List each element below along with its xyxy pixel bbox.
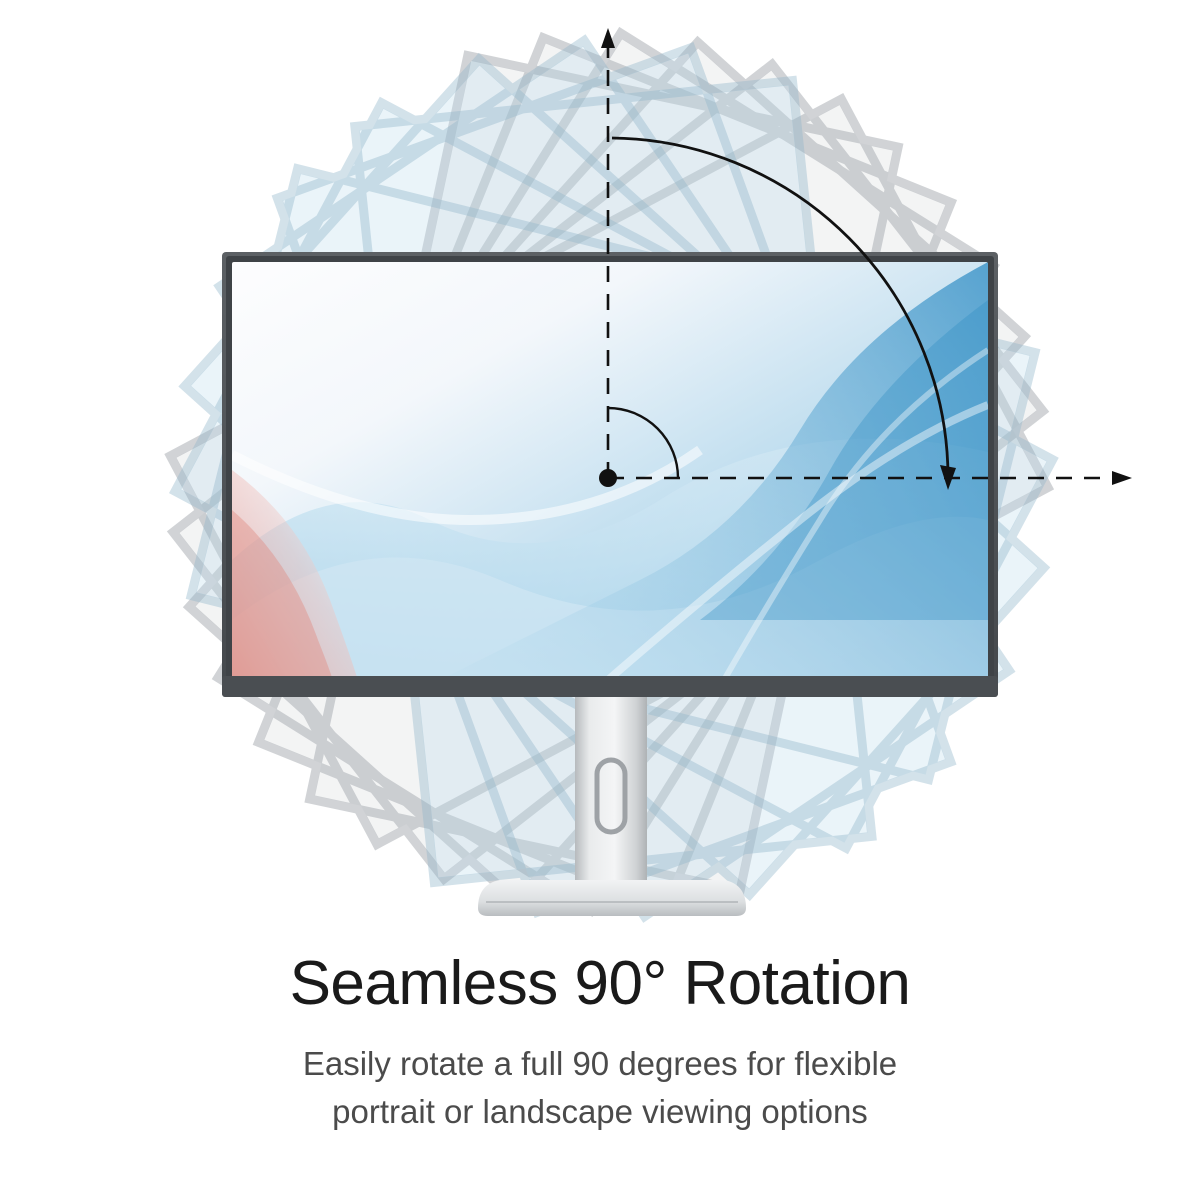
caption-block: Seamless 90° Rotation Easily rotate a fu… — [0, 950, 1200, 1136]
rotation-feature-page: Seamless 90° Rotation Easily rotate a fu… — [0, 0, 1200, 1200]
subtitle-line-2: portrait or landscape viewing options — [332, 1093, 868, 1130]
page-title: Seamless 90° Rotation — [0, 950, 1200, 1018]
page-subtitle: Easily rotate a full 90 degrees for flex… — [0, 1040, 1200, 1136]
subtitle-line-1: Easily rotate a full 90 degrees for flex… — [303, 1045, 897, 1082]
rotation-pivot-dot — [599, 469, 617, 487]
illustration-svg — [0, 0, 1200, 940]
horizontal-axis-arrowhead — [1112, 471, 1132, 485]
monitor-rotation-illustration — [0, 0, 1200, 940]
